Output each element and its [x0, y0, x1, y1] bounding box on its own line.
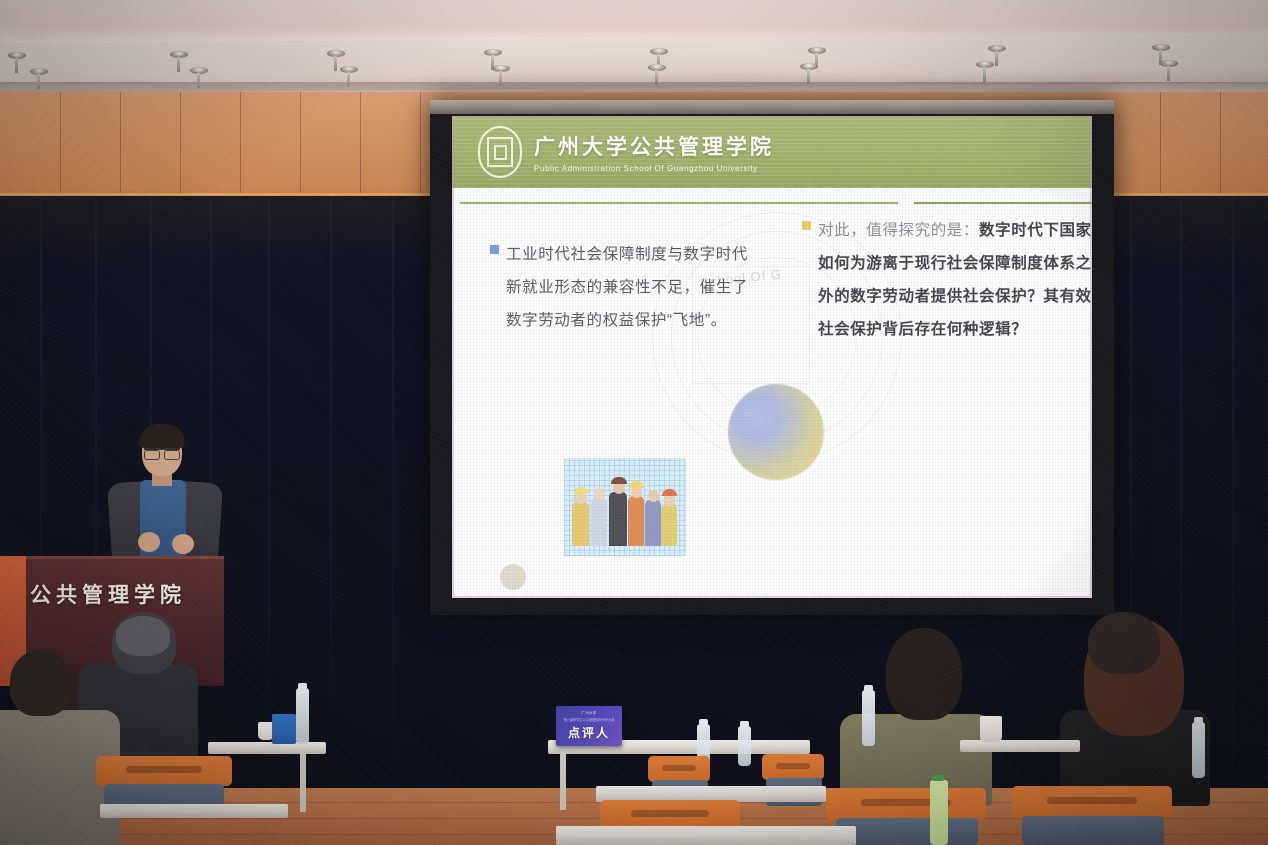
water-bottle — [1192, 722, 1205, 778]
slide-left-column: 工业时代社会保障制度与数字时代新就业形态的兼容性不足，催生了数字劳动者的权益保护… — [490, 238, 748, 337]
slide-right-main-text: 数字时代下国家如何为游离于现行社会保障制度体系之外的数字劳动者提供社会保护？其有… — [818, 222, 1092, 338]
placard-header-line1: 广州大学 — [581, 711, 596, 716]
speaker-person — [96, 424, 236, 574]
ceiling-light-icon — [170, 51, 188, 58]
ceiling-light-icon — [8, 52, 26, 59]
slide-right-column: 对此，值得探究的是：数字时代下国家如何为游离于现行社会保障制度体系之外的数字劳动… — [802, 214, 1092, 346]
slide-header-title-cn: 广州大学公共管理学院 — [534, 131, 774, 161]
ceiling-light-icon — [808, 47, 826, 54]
slide-header-title-en: Public Administration School Of Guangzho… — [534, 164, 774, 173]
ceiling-light-icon — [1160, 60, 1178, 67]
chair — [762, 754, 824, 780]
gradient-sphere-graphic — [728, 384, 824, 480]
ceiling-light-icon — [30, 68, 48, 75]
role-placard: 广州大学 第六届研究生公共管理案例分析大赛 点评人 — [556, 706, 622, 746]
ceiling-light-icon — [327, 50, 345, 57]
audience-table — [100, 804, 288, 818]
water-bottle — [930, 780, 948, 845]
chair — [1012, 786, 1172, 818]
podium-sign-text: 公共管理学院 — [30, 579, 186, 609]
chair — [826, 788, 986, 820]
ceiling-light-icon — [484, 49, 502, 56]
water-bottle — [296, 688, 309, 744]
table-leg — [560, 752, 566, 810]
screen-top-bar — [430, 100, 1114, 114]
glasses-icon — [144, 448, 180, 456]
presentation-slide: School Of G 广州大学公共管理学院 Public Administra… — [452, 116, 1092, 598]
chair — [648, 756, 710, 782]
slide-right-lead-text: 对此，值得探究的是： — [818, 222, 979, 239]
projection-screen-frame: School Of G 广州大学公共管理学院 Public Administra… — [430, 100, 1114, 615]
ceiling-light-icon — [1152, 44, 1170, 51]
audience-table — [960, 740, 1080, 752]
ceiling-light-icon — [800, 63, 818, 70]
ceiling-light-icon — [976, 61, 994, 68]
placard-role-label: 点评人 — [568, 724, 610, 741]
chair — [96, 756, 232, 786]
ceiling-light-icon — [650, 48, 668, 55]
slide-divider — [452, 202, 1092, 205]
lecture-hall-scene: School Of G 广州大学公共管理学院 Public Administra… — [0, 0, 1268, 845]
ceiling-light-icon — [190, 67, 208, 74]
placard-header-line2: 第六届研究生公共管理案例分析大赛 — [564, 717, 615, 722]
ceiling — [0, 0, 1268, 96]
ceiling-light-icon — [340, 66, 358, 73]
university-seal-icon — [478, 126, 522, 178]
square-bullet-icon — [490, 245, 499, 254]
chair-seat — [836, 818, 978, 845]
ceiling-light-icon — [492, 65, 510, 72]
slide-left-text: 工业时代社会保障制度与数字时代新就业形态的兼容性不足，催生了数字劳动者的权益保护… — [506, 238, 748, 337]
table-leg — [300, 752, 306, 812]
water-bottle — [738, 726, 751, 766]
decorative-circle — [500, 564, 526, 590]
square-bullet-icon — [802, 221, 811, 230]
audience-member — [1078, 612, 1188, 722]
chair-seat — [1022, 816, 1164, 845]
blue-box — [272, 714, 296, 744]
group-of-workers-illustration — [564, 458, 686, 556]
paper-cup — [980, 716, 1002, 742]
ceiling-light-icon — [648, 64, 666, 71]
water-bottle — [862, 690, 875, 746]
slide-header: 广州大学公共管理学院 Public Administration School … — [452, 116, 1092, 188]
audience-table — [208, 742, 326, 754]
ceiling-light-icon — [988, 45, 1006, 52]
audience-table — [556, 826, 856, 845]
